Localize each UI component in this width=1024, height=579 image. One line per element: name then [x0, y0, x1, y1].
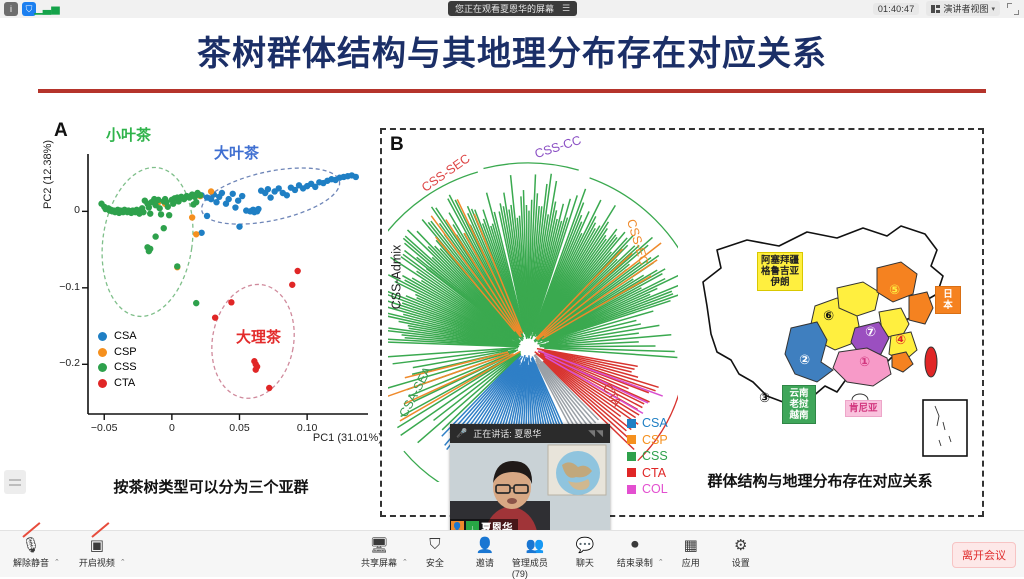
scatter-point-CSS [147, 210, 153, 216]
toolbar-item-label: 共享屏幕 [361, 556, 397, 569]
map-number-4: ④ [895, 332, 906, 348]
legend-dot-icon [98, 363, 107, 372]
tree-legend-label: CSA [642, 415, 668, 432]
security-shield-icon: ⛉ [429, 535, 440, 554]
tree-branch [543, 346, 656, 347]
scatter-point-CTA [294, 268, 300, 274]
scatter-point-CSA [284, 192, 290, 198]
cluster-ellipse-CTA [203, 278, 303, 405]
toolbar-item-label: 解除静音 [13, 556, 49, 569]
y-tick-label: 0 [52, 204, 80, 216]
scatter-point-CSA [267, 194, 273, 200]
participants-icon: 👥 [526, 535, 545, 554]
scatter-point-CSS [174, 263, 180, 269]
x-tick-label: 0.10 [293, 422, 321, 434]
stop-recording-icon: ⏺ [631, 535, 639, 554]
speaking-label: 正在讲话: 夏恩华 [473, 427, 541, 440]
legend-swatch-icon [627, 452, 636, 461]
title-divider [38, 89, 986, 93]
panel-a-pca: A 小叶茶 大叶茶 大理茶 PC2 (12.38%) PC1 (31.01%) … [46, 114, 376, 454]
y-tick-label: −0.2 [52, 357, 80, 369]
scatter-point-CSS [152, 233, 158, 239]
tree-legend-item: CSP [627, 432, 668, 449]
toolbar-item-apps[interactable]: ▦应用 [668, 535, 714, 569]
scatter-point-CSS [193, 199, 199, 205]
toolbar-item-label: 开启视频 [79, 556, 115, 569]
video-feed: 👤 ↓ 夏恩华 [450, 443, 610, 536]
tree-legend-label: CSS [642, 448, 668, 465]
pca-legend-item: CTA [98, 376, 137, 392]
list-line-icon [9, 484, 21, 486]
x-tick-label: −0.05 [90, 422, 118, 434]
scatter-point-CSP [193, 231, 199, 237]
hamburger-icon[interactable]: ☰ [562, 3, 570, 14]
legend-swatch-icon [627, 419, 636, 428]
pca-legend-item: CSS [98, 360, 137, 376]
toolbar-item-label: 设置 [732, 556, 750, 569]
info-icon[interactable]: i [4, 2, 18, 16]
toolbar-item-label: 安全 [426, 556, 444, 569]
map-number-2: ② [799, 352, 810, 368]
toolbar-item-label: 应用 [682, 556, 700, 569]
scatter-point-CSA [265, 186, 271, 192]
chevron-up-icon[interactable]: ⌃ [402, 558, 408, 566]
scatter-point-CSS [140, 209, 146, 215]
toolbar-item-video-off[interactable]: ▣开启视频 [74, 535, 120, 569]
scatter-point-CTA [266, 385, 272, 391]
scatter-point-CSS [197, 192, 203, 198]
video-off-icon: ▣ [90, 535, 104, 554]
chevron-up-icon[interactable]: ⌃ [54, 558, 60, 566]
pca-legend-label: CSA [114, 329, 137, 345]
x-tick-label: 0.05 [225, 422, 253, 434]
toolbar-item-label: 结束录制 [617, 556, 653, 569]
map-label-japan: 日 本 [935, 286, 961, 314]
bottom-toolbar-left: 🎙解除静音⌃▣开启视频⌃ [8, 535, 126, 569]
toolbar-item-stop-recording[interactable]: ⏺结束录制 [612, 535, 658, 569]
legend-swatch-icon [627, 435, 636, 444]
x-tick-label: 0 [158, 422, 186, 434]
map-label-kenya: 肯尼亚 [845, 400, 882, 417]
chat-icon: 💬 [576, 535, 595, 554]
view-mode-selector[interactable]: 演讲者视图 ▾ [926, 1, 1000, 16]
scatter-point-CSA [198, 230, 204, 236]
toolbar-item-share-screen[interactable]: 🖥共享屏幕 [356, 535, 402, 569]
scatter-point-CSA [353, 174, 359, 180]
speaking-mic-icon: 🎤 [456, 428, 467, 439]
scatter-point-CSS [165, 204, 171, 210]
share-screen-icon: 🖥 [369, 535, 388, 554]
bottom-toolbar-center: 🖥共享屏幕⌃⛉安全👤邀请👥管理成员(79)💬聊天⏺结束录制⌃▦应用⚙设置 [356, 535, 764, 579]
map-number-3: ③ [759, 390, 770, 406]
legend-swatch-icon [627, 468, 636, 477]
legend-dot-icon [98, 348, 107, 357]
scatter-point-CSP [189, 214, 195, 220]
map-number-7: ⑦ [865, 324, 876, 340]
video-header: 🎤 正在讲话: 夏恩华 ◥◥ [450, 424, 610, 443]
scatter-point-CSA [236, 223, 242, 229]
map-number-1: ① [859, 354, 870, 370]
tree-label-css-admix: CSS-Admix [389, 245, 403, 310]
top-bar-status-icons: i ⛉ ▁▃▅ [4, 2, 54, 16]
bottom-toolbar: 🎙解除静音⌃▣开启视频⌃ 🖥共享屏幕⌃⛉安全👤邀请👥管理成员(79)💬聊天⏺结束… [0, 530, 1024, 577]
toolbar-item-chat[interactable]: 💬聊天 [562, 535, 608, 569]
viewing-screen-text: 您正在观看夏恩华的屏幕 [455, 2, 554, 15]
scatter-point-CSS [193, 300, 199, 306]
toolbar-item-label: 邀请 [476, 556, 494, 569]
top-bar: i ⛉ ▁▃▅ 您正在观看夏恩华的屏幕 ☰ 01:40:47 演讲者视图 ▾ [0, 0, 1024, 19]
toolbar-item-security-shield[interactable]: ⛉安全 [412, 535, 458, 569]
legend-dot-icon [98, 379, 107, 388]
scatter-point-CSS [155, 197, 161, 203]
video-more-icon[interactable]: ◥◥ [588, 428, 604, 439]
pca-scatter-svg [46, 114, 376, 454]
legend-swatch-icon [627, 485, 636, 494]
tree-legend-label: CSP [642, 432, 668, 449]
chevron-up-icon[interactable]: ⌃ [120, 558, 126, 566]
pca-legend-label: CSS [114, 360, 137, 376]
scatter-point-CSA [204, 213, 210, 219]
toolbar-item-participants[interactable]: 👥管理成员(79) [512, 535, 558, 579]
speaker-view-icon [931, 5, 940, 13]
chevron-down-icon: ▾ [991, 5, 995, 13]
pca-legend-label: CTA [114, 376, 135, 392]
map-label-yunnan-laos-vietnam: 云南 老挝 越南 [782, 385, 816, 424]
chevron-up-icon[interactable]: ⌃ [658, 558, 664, 566]
map-number-5: ⑤ [889, 282, 900, 298]
slide-title: 茶树群体结构与其地理分布存在对应关系 [0, 26, 1024, 75]
scatter-point-CSS [156, 205, 162, 211]
scatter-point-CSA [232, 204, 238, 210]
scatter-point-CSS [166, 212, 172, 218]
map-label-azerbaijan-georgia-iran: 阿塞拜疆 格鲁吉亚 伊朗 [757, 252, 803, 291]
scatter-point-CTA [228, 299, 234, 305]
scatter-point-CTA [212, 314, 218, 320]
view-mode-label: 演讲者视图 [943, 2, 988, 15]
leave-meeting-button[interactable]: 离开会议 [952, 542, 1016, 568]
scatter-point-CSS [158, 211, 164, 217]
apps-icon: ▦ [684, 535, 698, 554]
signal-bars-icon[interactable]: ▁▃▅ [40, 2, 54, 16]
caption-panel-a: 按茶树类型可以分为三个亚群 [46, 476, 376, 497]
legend-dot-icon [98, 332, 107, 341]
top-bar-right: 01:40:47 演讲者视图 ▾ [873, 1, 1019, 16]
self-video-overlay[interactable]: 🎤 正在讲话: 夏恩华 ◥◥ 👤 ↓ 夏恩华 [450, 424, 610, 536]
scatter-point-CSP [208, 188, 214, 194]
viewing-screen-notice: 您正在观看夏恩华的屏幕 ☰ [448, 1, 577, 16]
toolbar-item-label: 聊天 [576, 556, 594, 569]
tree-legend-item: CSA [627, 415, 668, 432]
toolbar-item-invite[interactable]: 👤邀请 [462, 535, 508, 569]
scatter-point-CSS [161, 225, 167, 231]
pca-legend-item: CSP [98, 345, 137, 361]
scatter-point-CTA [289, 282, 295, 288]
caption-panel-b: 群体结构与地理分布存在对应关系 [660, 470, 980, 491]
list-panel-toggle[interactable] [4, 470, 26, 494]
invite-icon: 👤 [476, 535, 495, 554]
tree-group-arc [483, 163, 578, 170]
list-line-icon [9, 479, 21, 481]
pca-legend: CSACSPCSSCTA [98, 329, 137, 391]
scatter-point-CSA [219, 190, 225, 196]
map-number-6: ⑥ [823, 308, 834, 324]
scatter-point-CSS [147, 246, 153, 252]
map-labels-layer: 阿塞拜疆 格鲁吉亚 伊朗 日 本 云南 老挝 越南 肯尼亚 ① ② ③ ④ ⑤ … [687, 210, 977, 455]
toolbar-item-settings-gear[interactable]: ⚙设置 [718, 535, 764, 569]
pca-legend-item: CSA [98, 329, 137, 345]
toolbar-item-mic-muted[interactable]: 🎙解除静音 [8, 535, 54, 569]
scatter-point-CTA [253, 366, 259, 372]
cluster-ellipse-CSS [93, 162, 202, 323]
pca-legend-label: CSP [114, 345, 137, 361]
meeting-timer: 01:40:47 [873, 3, 920, 15]
scatter-point-CSA [230, 191, 236, 197]
scatter-point-CSA [239, 193, 245, 199]
scatter-point-CSA [255, 206, 261, 212]
scatter-point-CSA [225, 196, 231, 202]
exit-fullscreen-icon[interactable] [1007, 3, 1019, 15]
y-tick-label: −0.1 [52, 281, 80, 293]
tree-legend-item: CSS [627, 448, 668, 465]
mic-muted-icon: 🎙 [21, 535, 40, 554]
settings-gear-icon: ⚙ [734, 535, 747, 554]
